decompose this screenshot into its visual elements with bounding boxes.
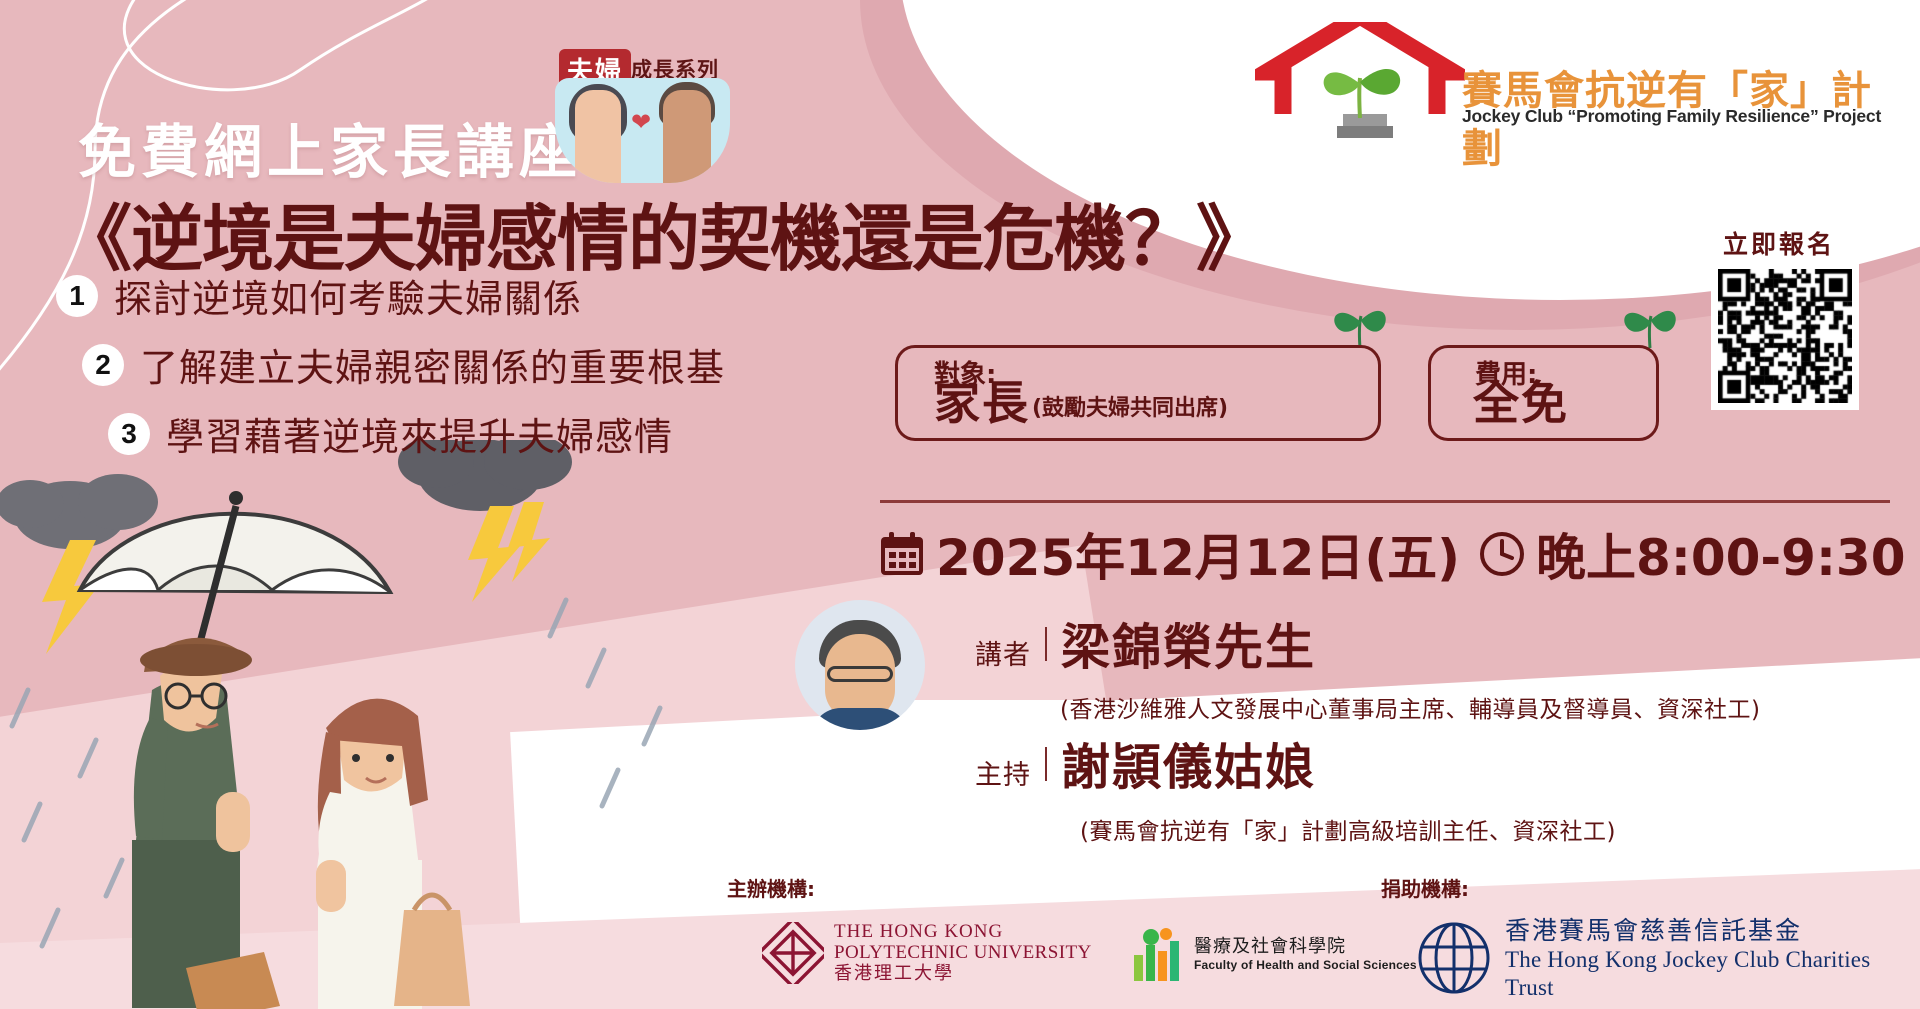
page-title: 免費網上家長講座	[78, 105, 582, 189]
polyu-name-cn: 香港理工大學	[834, 963, 1092, 985]
host-divider	[1045, 747, 1047, 781]
target-audience-value: 家長	[934, 380, 1030, 426]
hkjc-emblem-icon	[1415, 919, 1493, 997]
hkjc-name-cn: 香港賽馬會慈善信託基金	[1505, 915, 1920, 946]
event-date: 2025年12月12日(五)	[936, 518, 1460, 590]
qr-code-icon[interactable]	[1711, 262, 1859, 410]
faculty-emblem-icon	[1130, 925, 1186, 983]
host-name: 謝頴儀姑娘	[1061, 728, 1316, 799]
hkjc-logo: 香港賽馬會慈善信託基金 The Hong Kong Jockey Club Ch…	[1415, 915, 1920, 1001]
list-item: 2 了解建立夫婦親密關係的重要根基	[82, 337, 816, 392]
faculty-name-cn: 醫療及社會科學院	[1194, 936, 1417, 959]
target-audience-box: 對象: 家長 (鼓勵夫婦共同出席)	[895, 345, 1381, 441]
section-divider	[880, 500, 1890, 503]
host-role: 主持	[975, 753, 1031, 792]
register-now-label: 立即報名	[1723, 225, 1835, 261]
speaker-row: 講者 梁錦榮先生	[975, 608, 1316, 679]
house-sprout-icon	[1255, 22, 1465, 142]
sprout-icon	[1330, 300, 1390, 348]
list-item-label: 了解建立夫婦親密關係的重要根基	[140, 337, 725, 392]
faculty-logo: 醫療及社會科學院 Faculty of Health and Social Sc…	[1130, 925, 1417, 983]
couple-illustration-icon: ❤	[555, 78, 730, 183]
polyu-logo: THE HONG KONG POLYTECHNIC UNIVERSITY 香港理…	[762, 922, 1092, 985]
speaker-description: (香港沙維雅人文發展中心董事局主席、輔導員及督導員、資深社工)	[1060, 690, 1760, 724]
target-audience-value-group: 家長 (鼓勵夫婦共同出席)	[934, 380, 1228, 426]
calendar-icon	[878, 530, 926, 578]
sprout-icon	[1620, 300, 1680, 348]
list-item-number: 1	[56, 275, 98, 317]
fee-box: 費用: 全免	[1428, 345, 1659, 441]
target-audience-note: (鼓勵夫婦共同出席)	[1032, 390, 1228, 426]
event-time: 晚上8:00-9:30	[1536, 518, 1905, 590]
list-item-number: 3	[108, 413, 150, 455]
heart-icon: ❤	[631, 108, 651, 137]
list-item: 3 學習藉著逆境來提升夫婦感情	[108, 406, 816, 461]
faculty-name-en: Faculty of Health and Social Sciences	[1194, 958, 1417, 972]
fee-value-group: 全免	[1473, 380, 1569, 426]
avatar	[795, 600, 925, 730]
organiser-label: 主辦機構:	[727, 873, 815, 902]
polyu-name-en-line1: THE HONG KONG	[834, 922, 1092, 943]
polyu-emblem-icon	[762, 922, 824, 984]
fee-value: 全免	[1473, 380, 1569, 426]
speaker-name: 梁錦榮先生	[1061, 608, 1316, 679]
project-logo: 賽馬會抗逆有「家」計劃 Jockey Club “Promoting Famil…	[1255, 22, 1895, 147]
clock-icon	[1478, 530, 1526, 578]
list-item-label: 探討逆境如何考驗夫婦關係	[114, 268, 582, 323]
speaker-role: 講者	[975, 633, 1031, 672]
host-row: 主持 謝頴儀姑娘	[975, 728, 1316, 799]
datetime-row: 2025年12月12日(五) 晚上8:00-9:30	[878, 518, 1906, 590]
host-description: (賽馬會抗逆有「家」計劃高級培訓主任、資深社工)	[1080, 812, 1616, 846]
funder-label: 捐助機構:	[1381, 873, 1469, 902]
rainy-couple-illustration	[0, 440, 760, 1009]
polyu-name-en-line2: POLYTECHNIC UNIVERSITY	[834, 943, 1092, 964]
seminar-objectives-list: 1 探討逆境如何考驗夫婦關係 2 了解建立夫婦親密關係的重要根基 3 學習藉著逆…	[56, 268, 816, 475]
speaker-divider	[1045, 627, 1047, 661]
poster-root: 免費網上家長講座 夫婦 成長系列 ❤ 賽馬會抗逆有「家」計劃 Jockey Cl…	[0, 0, 1920, 1009]
list-item-label: 學習藉著逆境來提升夫婦感情	[166, 406, 673, 461]
list-item: 1 探討逆境如何考驗夫婦關係	[56, 268, 816, 323]
project-name-en: Jockey Club “Promoting Family Resilience…	[1462, 106, 1881, 127]
hkjc-name-en: The Hong Kong Jockey Club Charities Trus…	[1505, 946, 1920, 1001]
list-item-number: 2	[82, 344, 124, 386]
